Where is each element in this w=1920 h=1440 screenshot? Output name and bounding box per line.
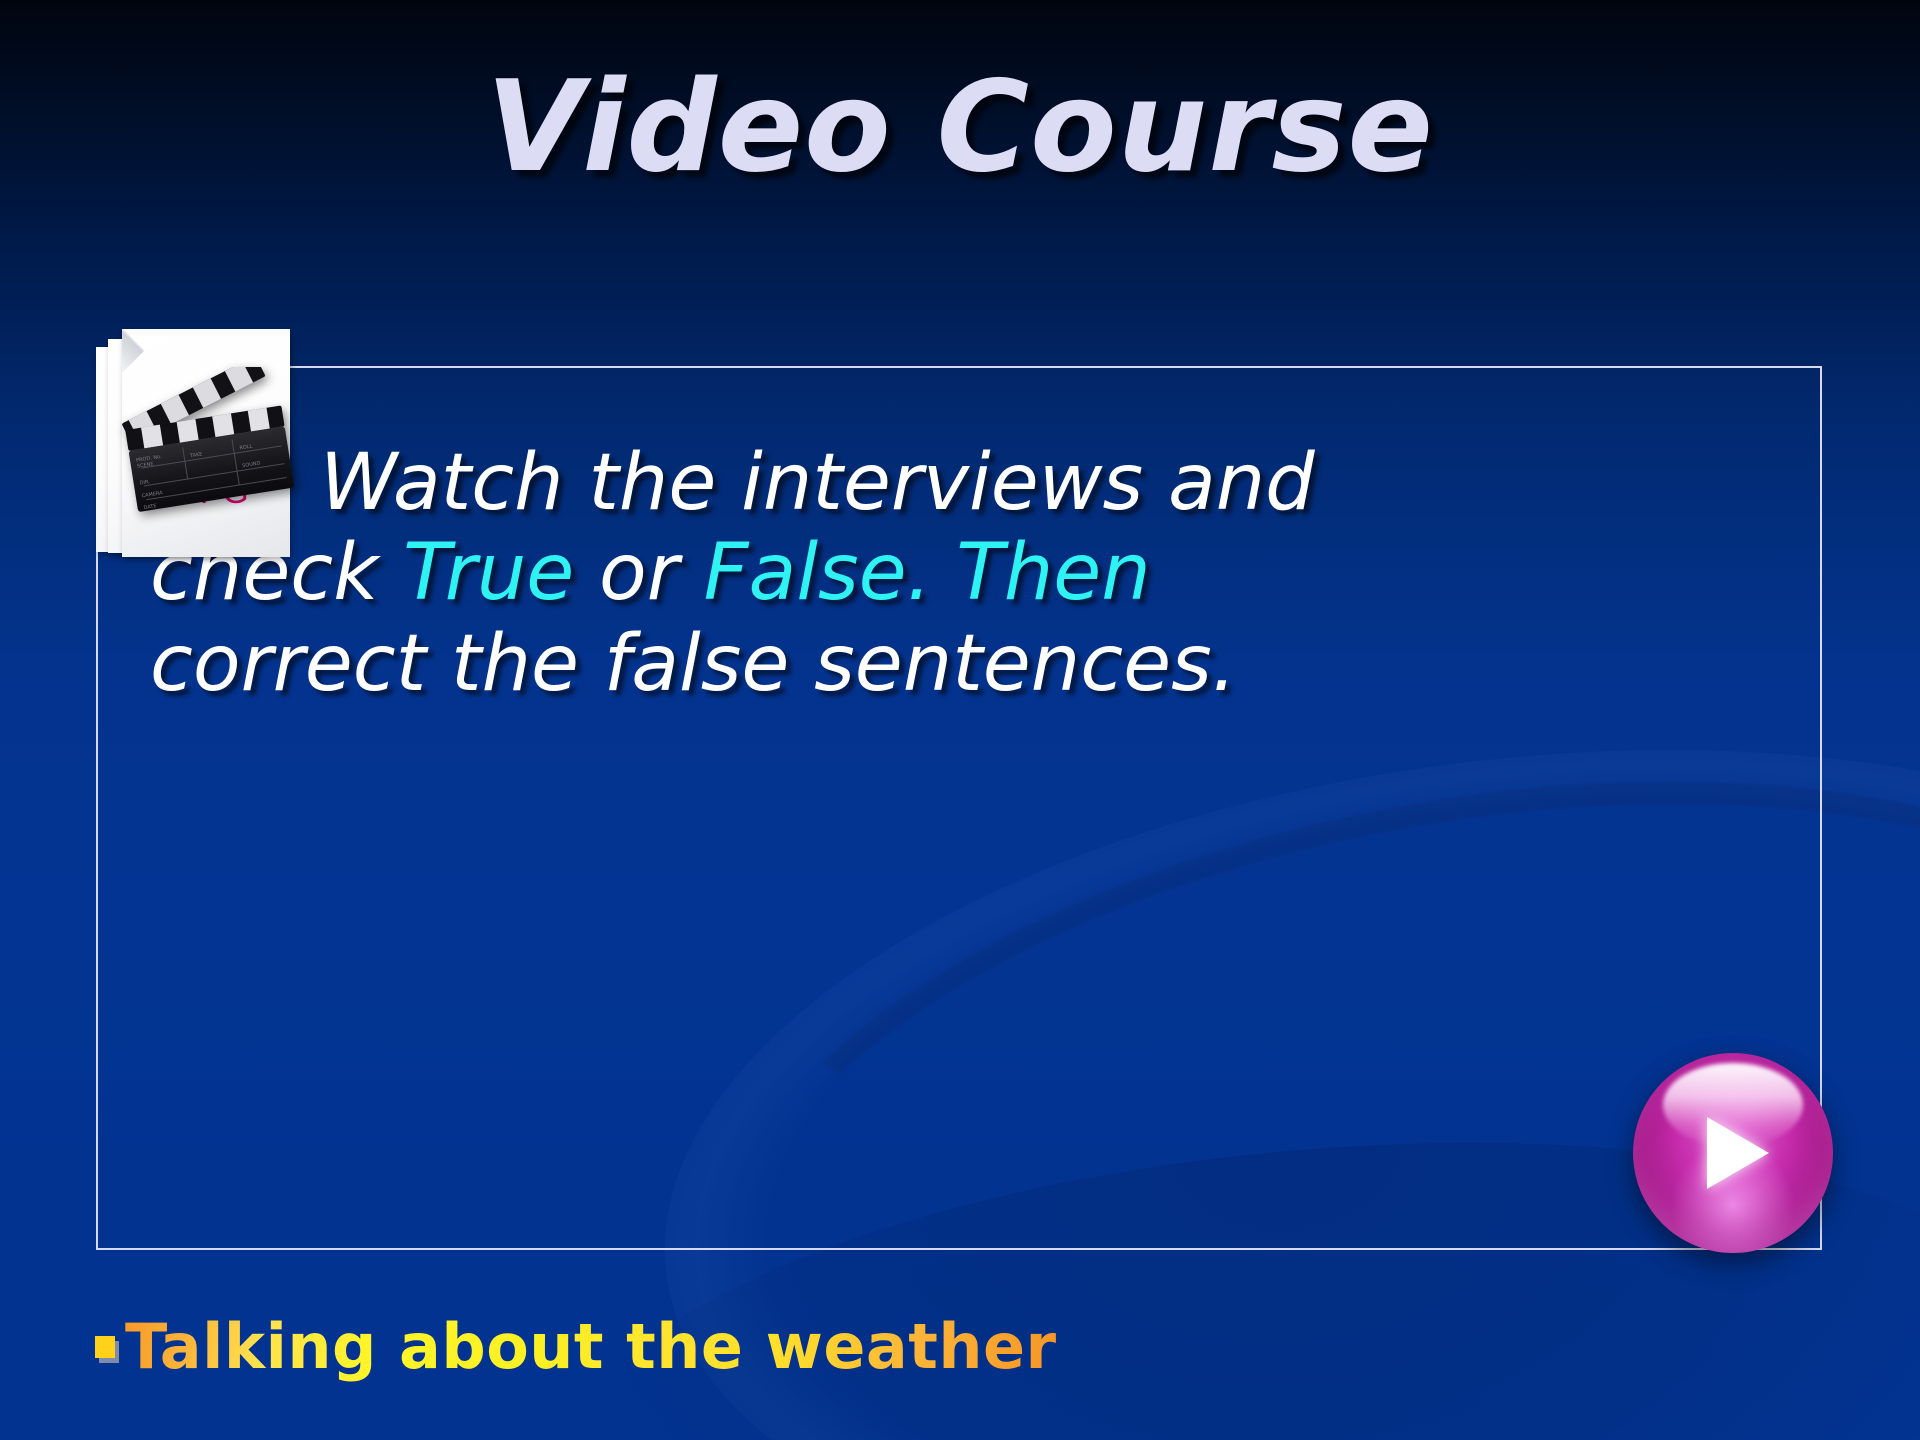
false-keyword: False [704, 528, 907, 618]
body-line-1-text: Watch the interviews and [320, 438, 1315, 528]
play-triangle-icon [1707, 1117, 1769, 1189]
body-line-3: correct the false sentences. [150, 619, 1810, 709]
body-line-2-conjunction: or [574, 528, 703, 618]
clapperboard-icon: PROD. No. SCENE TAKE ROLL SOUND DIR. CAM… [104, 367, 304, 517]
mpg-video-file-icon[interactable]: MPG [96, 325, 306, 580]
caption-bullet-icon [95, 1336, 115, 1358]
presentation-slide: Video Course Watch the interviews and ch… [0, 0, 1920, 1440]
body-line-2-suffix: . Then [907, 528, 1151, 618]
slide-footer-caption: Talking about the weather Talking about … [95, 1310, 1057, 1383]
body-text-block: Watch the interviews and check True or F… [150, 438, 1810, 709]
svg-text:DATE: DATE [143, 503, 157, 511]
body-line-1: Watch the interviews and [150, 438, 1810, 528]
caption-text-wrapper: Talking about the weather Talking about … [125, 1310, 1057, 1383]
body-line-2: check True or False. Then [150, 528, 1810, 618]
play-video-button[interactable] [1633, 1053, 1833, 1253]
caption-text: Talking about the weather [125, 1310, 1057, 1383]
slide-title: Video Course [0, 56, 1920, 197]
true-keyword: True [403, 528, 574, 618]
